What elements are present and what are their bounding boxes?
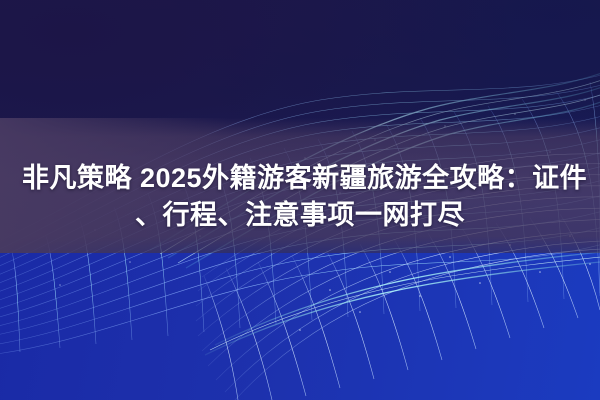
banner-title: 非凡策略 2025外籍游客新疆旅游全攻略：证件 、行程、注意事项一网打尽: [0, 160, 600, 234]
banner-cover: 非凡策略 2025外籍游客新疆旅游全攻略：证件 、行程、注意事项一网打尽: [0, 0, 600, 400]
title-line-2: 、行程、注意事项一网打尽: [22, 197, 578, 234]
title-line-1: 非凡策略 2025外籍游客新疆旅游全攻略：证件: [22, 160, 578, 197]
